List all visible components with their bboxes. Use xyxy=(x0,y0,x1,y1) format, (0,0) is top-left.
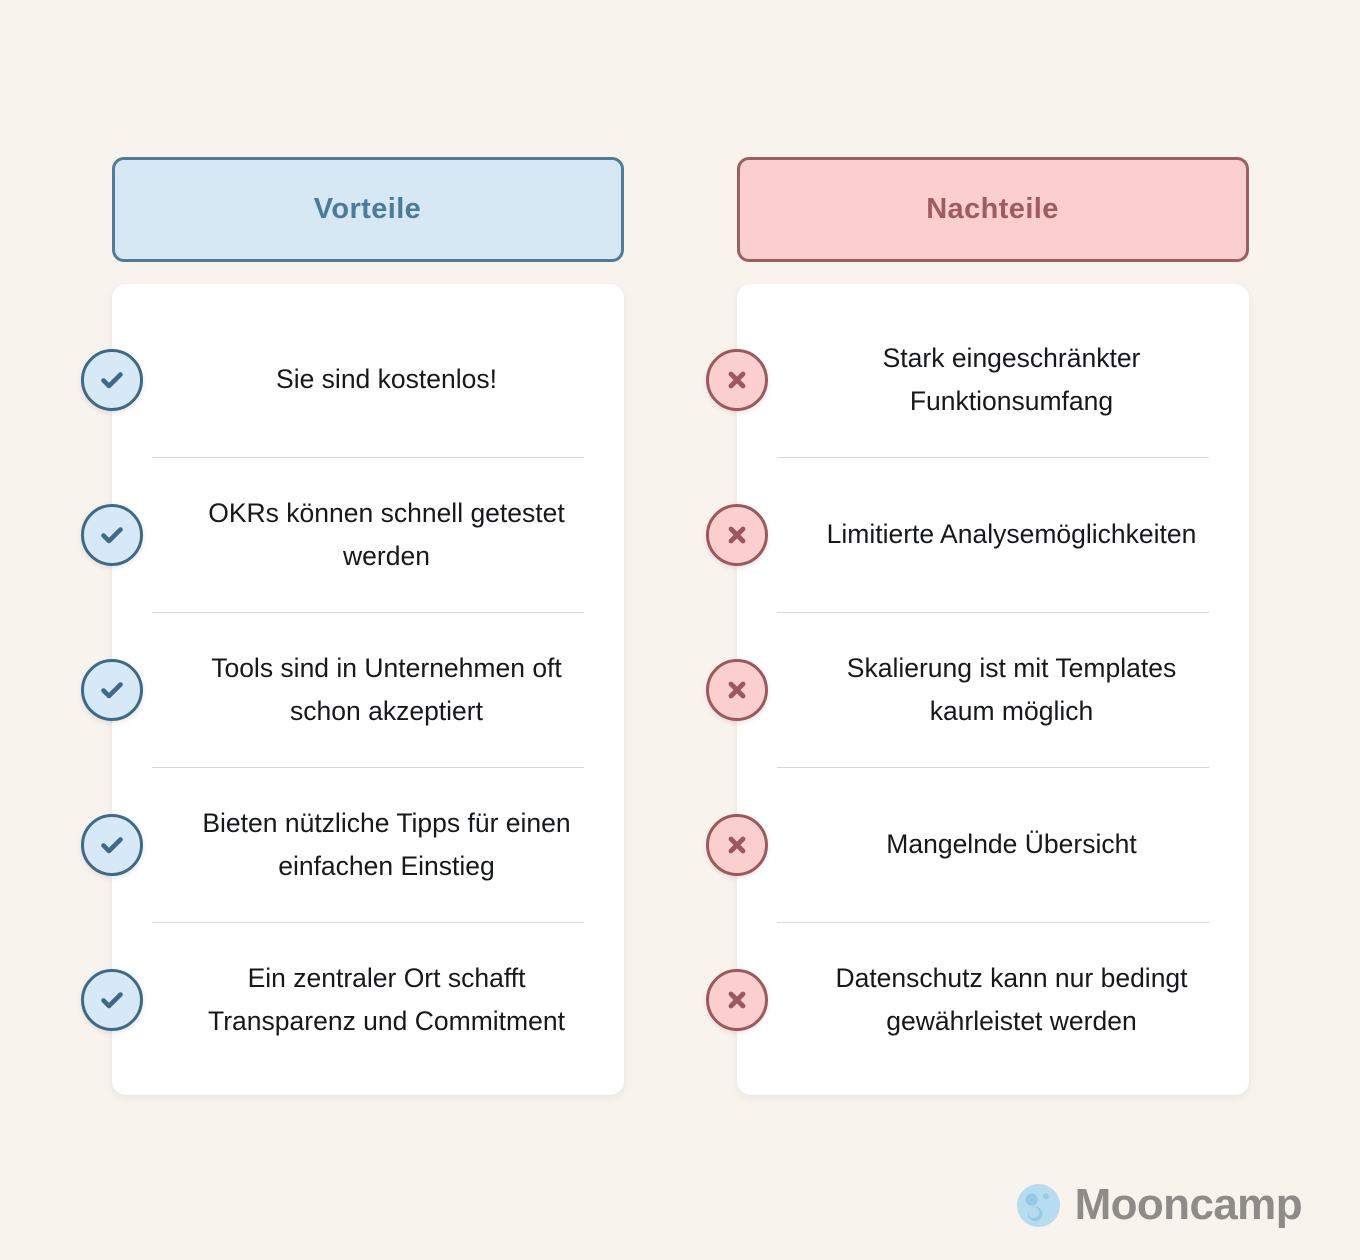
column-title-pros: Vorteile xyxy=(314,193,421,226)
list-item-label: Tools sind in Unternehmen oft schon akze… xyxy=(133,647,603,733)
list-item: Skalierung ist mit Templates kaum möglic… xyxy=(737,612,1249,767)
list-item-label: Skalierung ist mit Templates kaum möglic… xyxy=(758,647,1228,733)
cross-circle-icon xyxy=(706,349,768,411)
cross-circle-icon xyxy=(706,659,768,721)
list-item-label: Ein zentraler Ort schafft Transparenz un… xyxy=(133,957,603,1043)
list-item: Ein zentraler Ort schafft Transparenz un… xyxy=(112,922,624,1077)
list-item: Datenschutz kann nur bedingt gewährleist… xyxy=(737,922,1249,1077)
brand-name: Mooncamp xyxy=(1075,1180,1302,1230)
check-circle-icon xyxy=(81,814,143,876)
list-item-label: Bieten nützliche Tipps für einen einfach… xyxy=(133,802,603,888)
list-item: OKRs können schnell getestet werden xyxy=(112,457,624,612)
list-item-label: OKRs können schnell getestet werden xyxy=(133,492,603,578)
list-item: Sie sind kostenlos! xyxy=(112,302,624,457)
list-item: Tools sind in Unternehmen oft schon akze… xyxy=(112,612,624,767)
column-header-pros: Vorteile xyxy=(112,157,624,262)
check-circle-icon xyxy=(81,504,143,566)
list-item: Bieten nützliche Tipps für einen einfach… xyxy=(112,767,624,922)
check-circle-icon xyxy=(81,349,143,411)
cross-circle-icon xyxy=(706,504,768,566)
column-cons: Nachteile Stark eingeschränkter Funktion… xyxy=(737,157,1249,1095)
column-pros: Vorteile Sie sind kostenlos! OKRs können… xyxy=(112,157,624,1095)
check-circle-icon xyxy=(81,969,143,1031)
brand-logo: Mooncamp xyxy=(1015,1180,1302,1230)
list-item-label: Limitierte Analysemöglichkeiten xyxy=(767,513,1219,556)
list-item: Mangelnde Übersicht xyxy=(737,767,1249,922)
column-header-cons: Nachteile xyxy=(737,157,1249,262)
list-item: Limitierte Analysemöglichkeiten xyxy=(737,457,1249,612)
cross-circle-icon xyxy=(706,814,768,876)
column-title-cons: Nachteile xyxy=(926,193,1059,226)
pros-card: Sie sind kostenlos! OKRs können schnell … xyxy=(112,284,624,1095)
comparison-board: Vorteile Sie sind kostenlos! OKRs können… xyxy=(0,157,1360,1095)
cross-circle-icon xyxy=(706,969,768,1031)
list-item-label: Stark eingeschränkter Funktionsumfang xyxy=(758,337,1228,423)
moon-logo-icon xyxy=(1015,1182,1062,1229)
list-item: Stark eingeschränkter Funktionsumfang xyxy=(737,302,1249,457)
cons-card: Stark eingeschränkter Funktionsumfang Li… xyxy=(737,284,1249,1095)
check-circle-icon xyxy=(81,659,143,721)
list-item-label: Mangelnde Übersicht xyxy=(826,823,1158,866)
list-item-label: Datenschutz kann nur bedingt gewährleist… xyxy=(758,957,1228,1043)
list-item-label: Sie sind kostenlos! xyxy=(216,358,519,401)
